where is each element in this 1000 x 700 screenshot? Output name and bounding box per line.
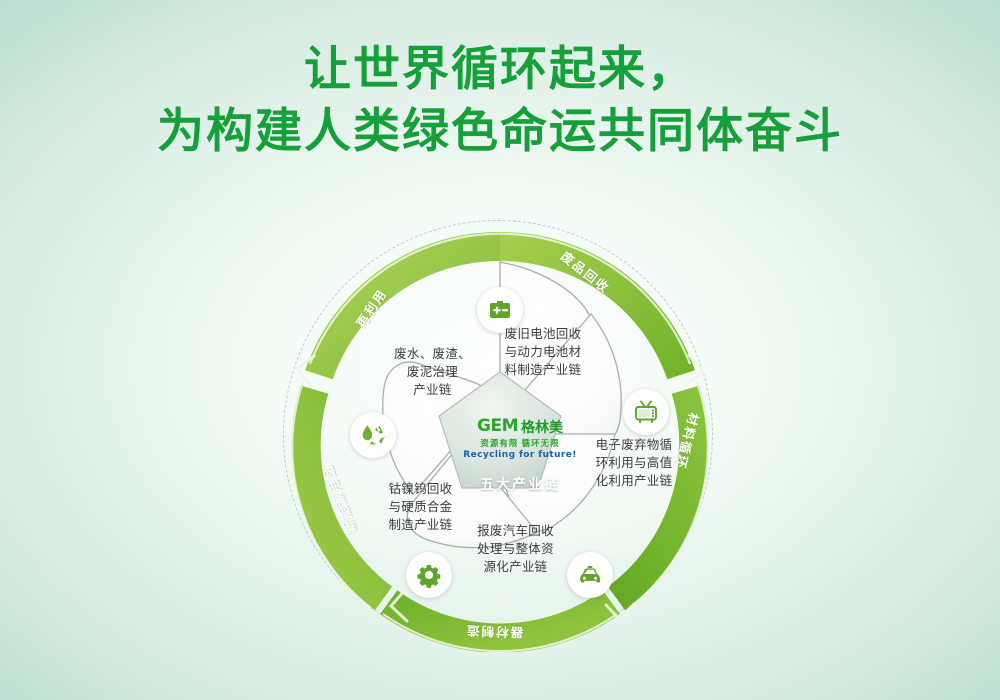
badge-tv[interactable] — [623, 389, 669, 435]
page-title-line-2: 为构建人类绿色命运共同体奋斗 — [0, 100, 1000, 162]
page-title-line-1: 让世界循环起来， — [0, 38, 1000, 100]
logo-slogan-en: Recycling for future! — [460, 450, 580, 460]
badge-gear[interactable] — [406, 552, 452, 598]
circular-industry-chain-diagram: 废旧电池回收 与动力电池材 料制造产业链 电子废弃物循 环利用与高值 化利用产业… — [285, 222, 715, 652]
petal-label-waste-treatment: 废水、废渣、 废泥治理 产业链 — [381, 345, 484, 399]
logo-gem-text: GEM — [477, 418, 518, 435]
logo-slogan-cn: 资源有限 循环无限 — [460, 437, 580, 449]
center-logo: GEM 格林美 资源有限 循环无限 Recycling for future! … — [460, 418, 580, 494]
gear-icon — [416, 562, 442, 588]
page-title: 让世界循环起来， 为构建人类绿色命运共同体奋斗 — [0, 38, 1000, 162]
ring-caption-equipment-manufacturing: 器材制造 — [465, 622, 524, 643]
center-caption: 五大产业链 — [460, 474, 580, 494]
petal-label-e-waste: 电子废弃物循 环利用与高值 化利用产业链 — [584, 436, 684, 490]
battery-icon — [487, 297, 513, 323]
petal-label-vehicle: 报废汽车回收 处理与整体资 源化产业链 — [463, 522, 568, 576]
logo-wordmark: GEM 格林美 — [460, 418, 580, 435]
petal-label-battery: 废旧电池回收 与动力电池材 料制造产业链 — [489, 325, 597, 379]
logo-chinese-name: 格林美 — [521, 420, 563, 434]
car-icon — [577, 562, 603, 588]
petal-label-alloy: 钴镍钨回收 与硬质合金 制造产业链 — [373, 480, 468, 534]
tv-icon — [633, 399, 659, 425]
badge-car[interactable] — [567, 552, 613, 598]
water-recycle-icon — [359, 422, 387, 448]
badge-water-recycle[interactable] — [350, 412, 396, 458]
